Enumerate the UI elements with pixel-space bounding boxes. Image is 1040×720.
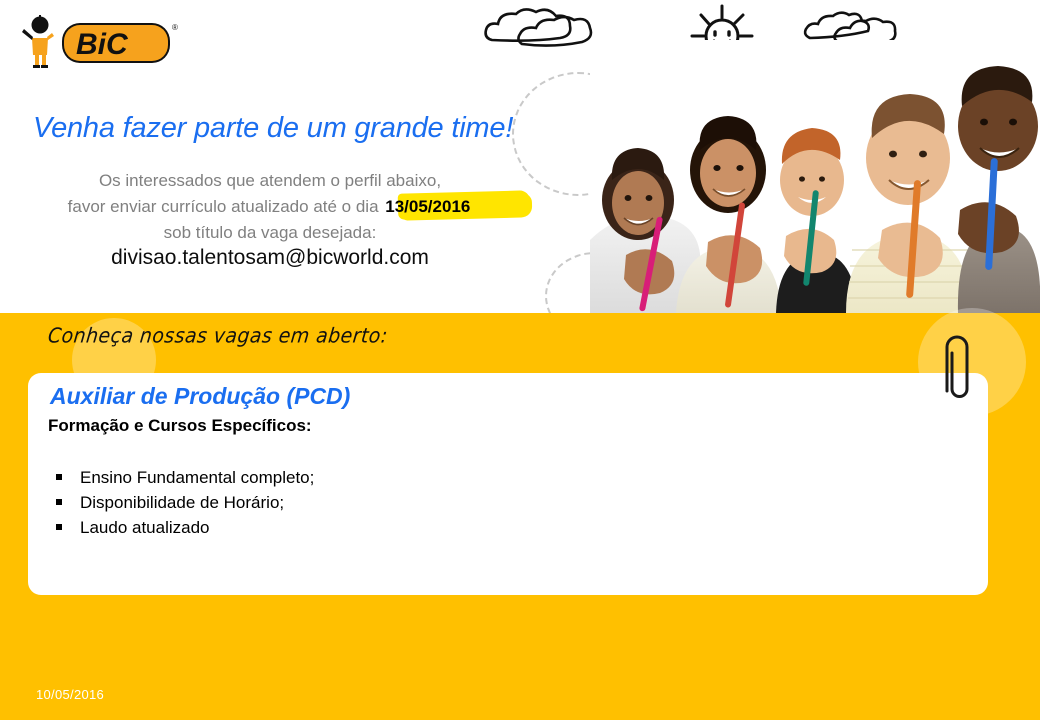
svg-text:BiC: BiC [76,28,129,61]
instructions-line-1: Os interessados que atendem o perfil aba… [99,171,441,190]
contact-email[interactable]: divisao.talentosam@bicworld.com [0,246,540,270]
vacancy-card: Auxiliar de Produção (PCD) Formação e Cu… [28,373,988,595]
section-heading: Conheça nossas vagas em aberto: [47,324,389,348]
svg-text:®: ® [172,23,178,32]
children-thumbs-up-photo [590,40,1040,313]
bullet-square-icon [56,499,62,505]
bic-logo-svg: BiC ® [18,13,178,71]
bullet-square-icon [56,474,62,480]
vacancy-section-label: Formação e Cursos Específicos: [48,416,312,436]
bullet-square-icon [56,524,62,530]
header-area: BiC ® [0,0,1040,313]
requirement-text: Ensino Fundamental completo; [80,468,314,487]
requirement-text: Disponibilidade de Horário; [80,493,284,512]
paperclip-icon [933,331,977,399]
instructions-line-3: sob título da vaga desejada: [164,223,377,242]
bic-wordmark-icon: BiC ® [62,23,178,63]
deadline-date: 13/05/2016 [383,194,472,220]
list-item: Laudo atualizado [48,515,314,540]
vacancy-job-title: Auxiliar de Produção (PCD) [50,383,350,410]
page-title: Venha fazer parte de um grande time! [33,112,513,145]
bic-logo: BiC ® [18,13,178,71]
footer-date: 10/05/2016 [36,687,104,702]
instructions-text: Os interessados que atendem o perfil aba… [0,168,540,246]
list-item: Ensino Fundamental completo; [48,465,314,490]
requirement-text: Laudo atualizado [80,518,210,537]
requirements-list: Ensino Fundamental completo; Disponibili… [48,465,314,540]
instructions-line-2-text: favor enviar currículo atualizado até o … [68,197,384,216]
cloud-doodle-icon [486,9,591,45]
bic-boy-mascot-icon [22,15,54,68]
slide-root: BiC ® [0,0,1040,720]
instructions-line-2: favor enviar currículo atualizado até o … [0,194,540,220]
list-item: Disponibilidade de Horário; [48,490,314,515]
